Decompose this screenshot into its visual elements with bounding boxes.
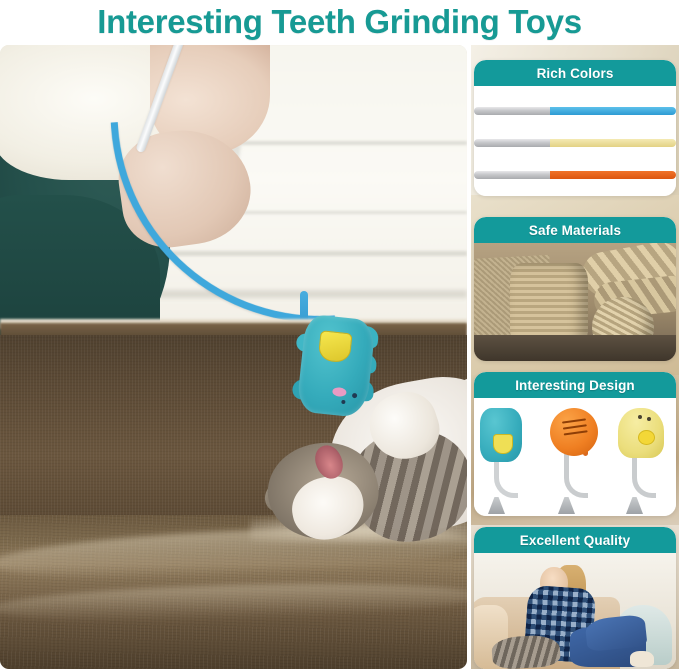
- card-header-rich-colors: Rich Colors: [474, 60, 676, 86]
- wand-swatch-blue: [474, 107, 676, 115]
- wand-swatch-yellow: [474, 139, 676, 147]
- product-infographic: Interesting Teeth Grinding Toys: [0, 0, 679, 669]
- yellow-toy-head: [618, 408, 664, 458]
- tassel-orange: [558, 497, 575, 514]
- wand-tip-orange: [550, 171, 676, 179]
- card-body-excellent-quality: [474, 553, 676, 669]
- teal-dinosaur-toy: [290, 313, 382, 421]
- teal-toy-head: [480, 408, 522, 462]
- wand-swatch-orange: [474, 171, 676, 179]
- card-body-safe-materials: [474, 243, 676, 361]
- card-title-safe-materials: Safe Materials: [529, 223, 621, 238]
- orange-round-toy-thumb: [550, 406, 600, 514]
- feature-card-safe-materials[interactable]: Safe Materials: [474, 217, 676, 361]
- toy-body: [296, 314, 376, 419]
- wand-grip-yellow: [474, 139, 552, 147]
- tassel-teal: [488, 497, 505, 514]
- hero-photo: [0, 45, 467, 669]
- jute-floor: [474, 335, 676, 361]
- yellow-triangle-toy-thumb: [618, 406, 668, 514]
- wand-tip-yellow: [550, 139, 676, 147]
- wand-tip-blue: [550, 107, 676, 115]
- feature-card-interesting-design[interactable]: Interesting Design: [474, 372, 676, 516]
- wand-grip-blue: [474, 107, 552, 115]
- card-header-excellent-quality: Excellent Quality: [474, 527, 676, 553]
- tassel-yellow: [626, 497, 643, 514]
- orange-toy-body: [550, 408, 598, 456]
- feature-card-excellent-quality[interactable]: Excellent Quality: [474, 527, 676, 669]
- yellow-toy-eyes: [638, 415, 642, 419]
- woman-foot: [630, 651, 654, 667]
- teal-dinosaur-toy-thumb: [480, 406, 530, 514]
- card-title-rich-colors: Rich Colors: [537, 66, 614, 81]
- card-header-interesting-design: Interesting Design: [474, 372, 676, 398]
- card-title-interesting-design: Interesting Design: [515, 378, 635, 393]
- page-title: Interesting Teeth Grinding Toys: [0, 0, 679, 44]
- orange-toy-stripes: [562, 418, 586, 423]
- yellow-toy-body: [618, 408, 664, 458]
- card-body-rich-colors: [474, 86, 676, 196]
- orange-toy-head: [550, 408, 598, 456]
- wand-grip-orange: [474, 171, 552, 179]
- card-body-interesting-design: [474, 398, 676, 516]
- card-header-safe-materials: Safe Materials: [474, 217, 676, 243]
- card-title-excellent-quality: Excellent Quality: [520, 533, 631, 548]
- teal-toy-belly: [493, 434, 513, 454]
- feature-card-rich-colors[interactable]: Rich Colors: [474, 60, 676, 196]
- teal-toy-body: [480, 408, 522, 462]
- feature-card-rail: Rich Colors Safe Materials: [471, 45, 679, 669]
- yellow-toy-spot: [638, 430, 655, 445]
